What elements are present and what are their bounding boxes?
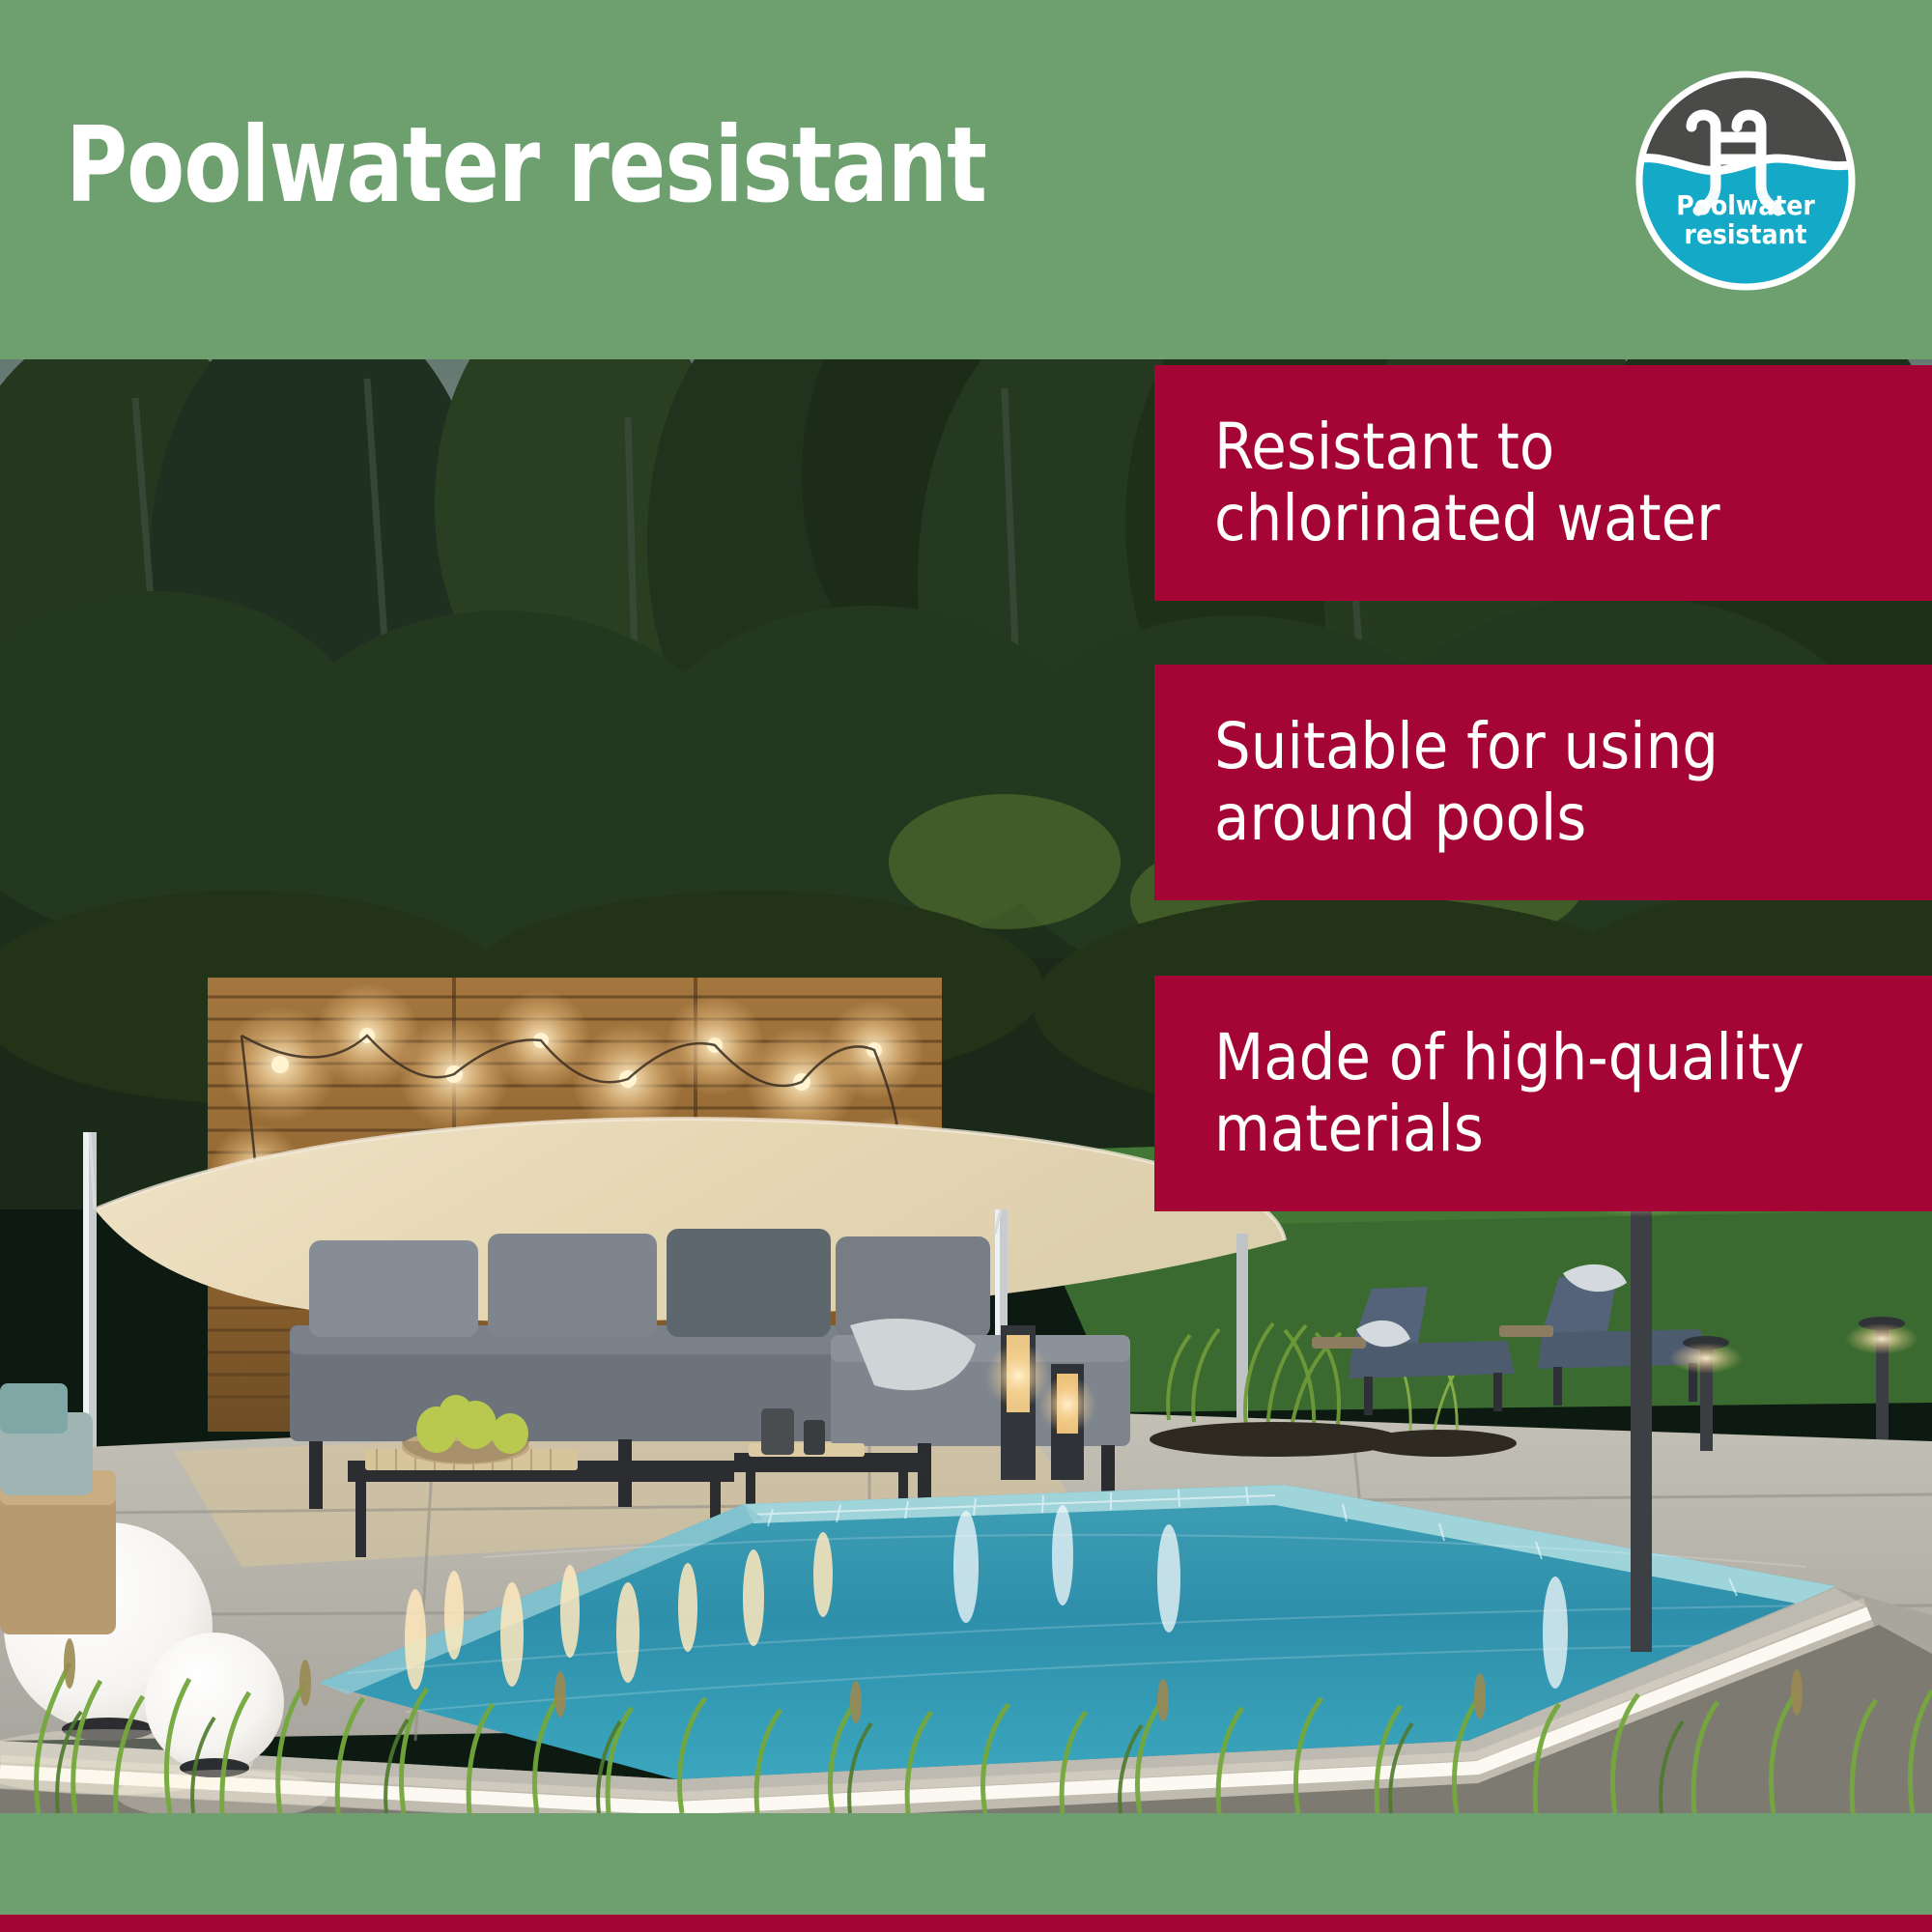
header-band: Poolwater resistant xyxy=(0,0,1932,359)
feature-text-1: Resistant to chlorinated water xyxy=(1154,412,1720,554)
feature-box-1: Resistant to chlorinated water xyxy=(1154,365,1932,601)
feature-3-line1: Made of high-quality xyxy=(1214,1022,1804,1094)
feature-2-line1: Suitable for using xyxy=(1214,711,1719,782)
badge-label-line1: Poolwater xyxy=(1631,191,1861,220)
pool-ladder-icon xyxy=(1631,66,1861,296)
feature-box-2: Suitable for using around pools xyxy=(1154,665,1932,900)
footer-red-strip xyxy=(0,1915,1932,1932)
badge-label: Poolwater resistant xyxy=(1631,191,1861,249)
feature-3-line2: materials xyxy=(1214,1094,1804,1165)
wicker-furniture xyxy=(0,1383,116,1634)
feature-2-line2: around pools xyxy=(1214,782,1719,854)
feature-1-line2: chlorinated water xyxy=(1214,483,1720,554)
poolwater-resistant-badge: Poolwater resistant xyxy=(1631,66,1861,296)
badge-label-line2: resistant xyxy=(1631,220,1861,249)
feature-text-2: Suitable for using around pools xyxy=(1154,711,1719,854)
footer-green-band xyxy=(0,1813,1932,1915)
feature-text-3: Made of high-quality materials xyxy=(1154,1022,1804,1165)
poster-root: Poolwater resistant xyxy=(0,0,1932,1932)
page-title: Poolwater resistant xyxy=(66,114,986,218)
feature-box-3: Made of high-quality materials xyxy=(1154,976,1932,1211)
feature-1-line1: Resistant to xyxy=(1214,412,1720,483)
